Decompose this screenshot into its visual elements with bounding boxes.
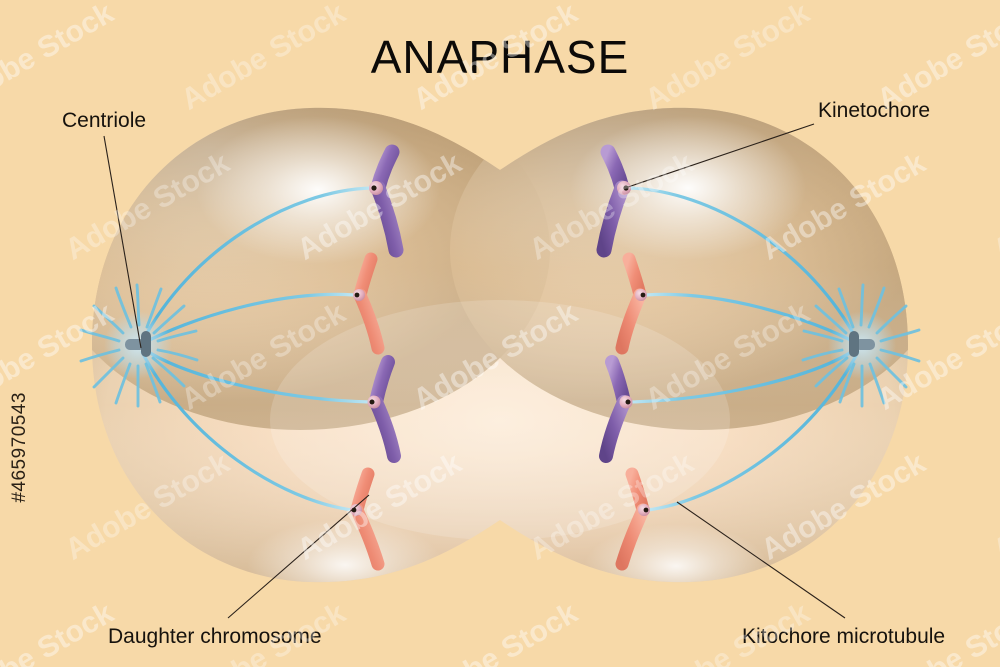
label-kitochore-microtubule: Kitochore microtubule bbox=[742, 626, 945, 647]
diagram-canvas: ANAPHASE Centriole Kinetochore Daughter … bbox=[0, 0, 1000, 667]
kinetochore-dot bbox=[626, 400, 631, 405]
kinetochore-dot bbox=[370, 400, 375, 405]
label-centriole: Centriole bbox=[62, 110, 146, 131]
centriole-cylinder-vertical bbox=[849, 331, 859, 357]
label-daughter-chromosome: Daughter chromosome bbox=[108, 626, 322, 647]
kinetochore-dot bbox=[641, 293, 646, 298]
kinetochore-dot bbox=[644, 508, 649, 513]
kinetochore-dot bbox=[355, 293, 360, 298]
watermark-asset-id: #465970543 bbox=[9, 392, 31, 503]
cell-highlight-top-left bbox=[196, 116, 440, 264]
label-kinetochore: Kinetochore bbox=[818, 100, 930, 121]
kinetochore-dot bbox=[371, 185, 376, 190]
cell-highlight-bottom-left bbox=[247, 519, 443, 611]
page-title: ANAPHASE bbox=[0, 30, 1000, 84]
cell-center-sheen bbox=[270, 300, 730, 540]
centriole-cylinder-vertical bbox=[141, 331, 151, 357]
cell-highlight-bottom-right bbox=[584, 524, 768, 608]
